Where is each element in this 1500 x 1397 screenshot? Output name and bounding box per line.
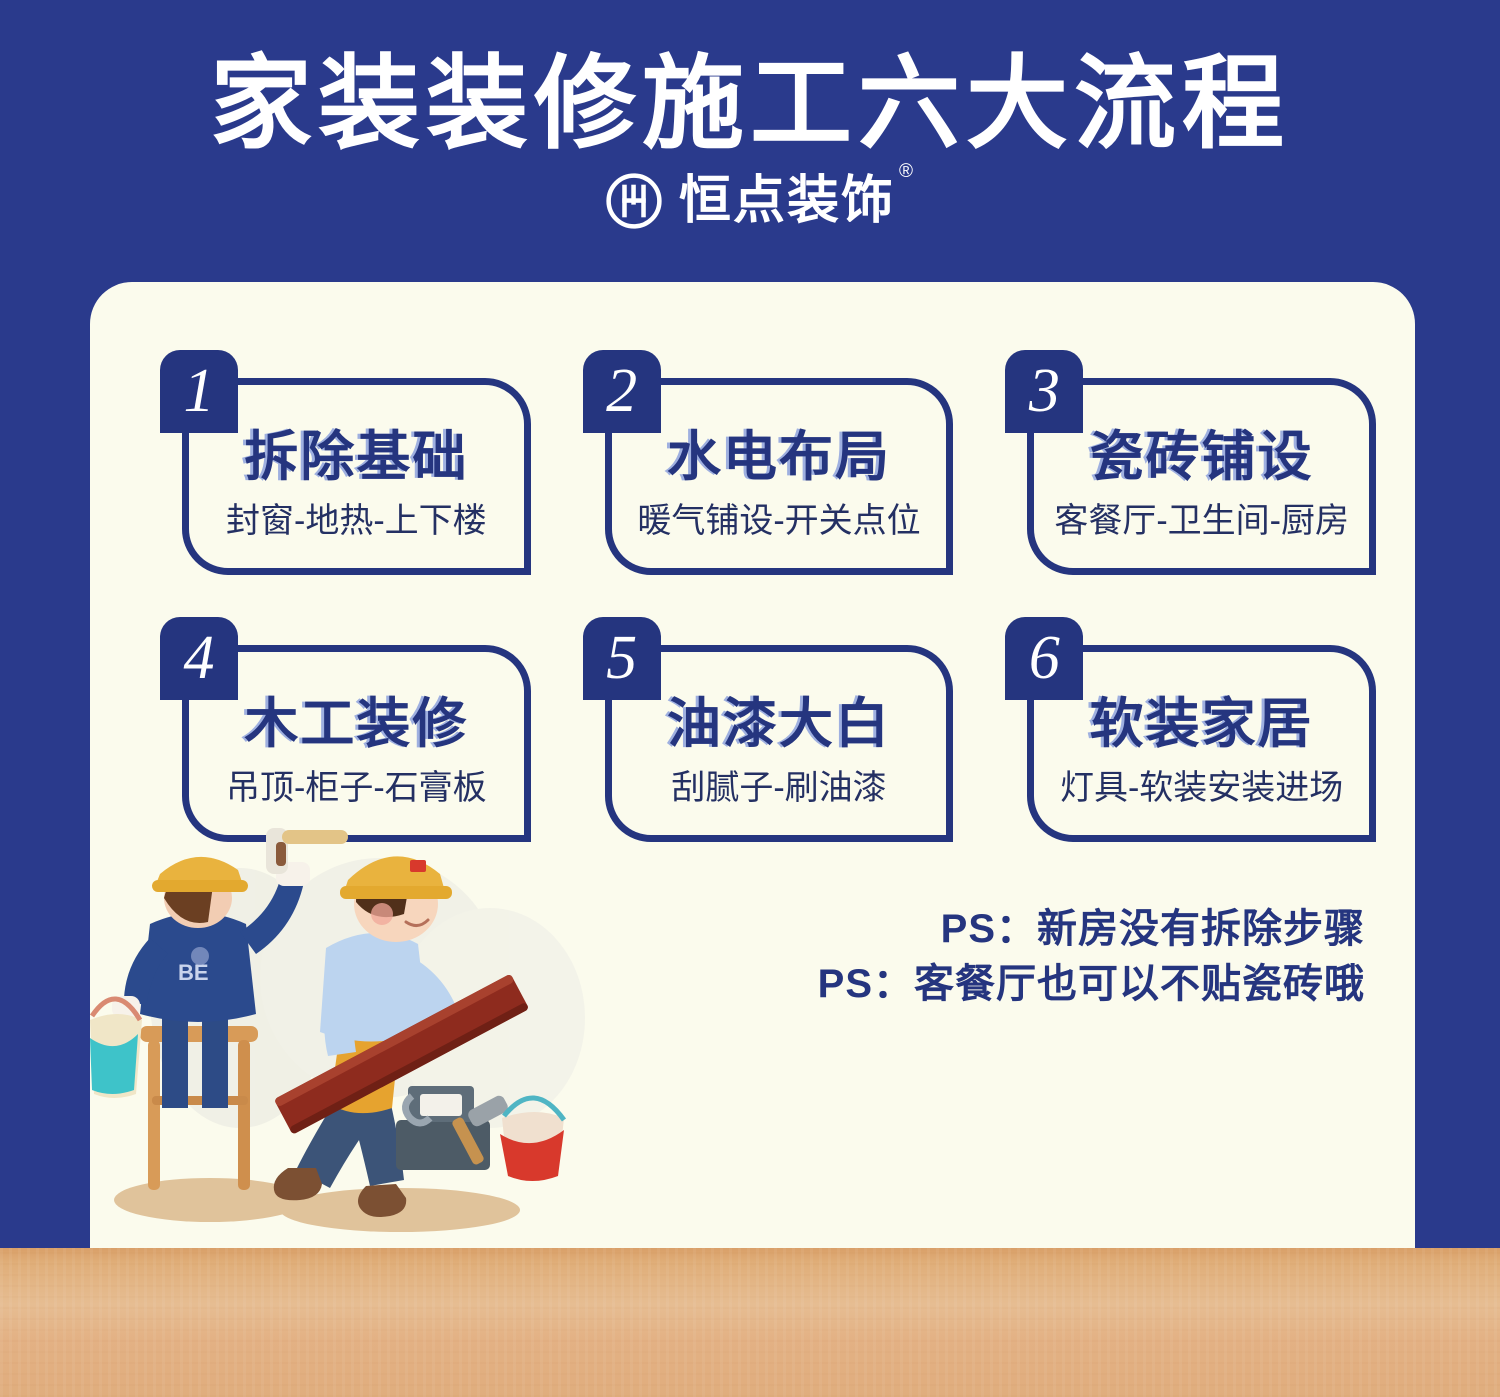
two-construction-workers-illustration: BE — [90, 828, 610, 1248]
step-title: 软装家居 — [1090, 693, 1314, 755]
step-title: 拆除基础 — [244, 426, 468, 488]
brand-name-text: 恒点装饰 — [679, 172, 895, 230]
step-subtitle: 刮腻子-刷油漆 — [671, 767, 886, 809]
step-subtitle: 暖气铺设-开关点位 — [637, 500, 920, 542]
floor-grain-texture — [0, 1248, 1500, 1397]
helmet-badge — [410, 860, 426, 872]
logo-svg — [605, 172, 663, 230]
step-subtitle: 客餐厅-卫生间-厨房 — [1054, 500, 1349, 542]
step-number: 6 — [1005, 619, 1083, 697]
step-subtitle: 封窗-地热-上下楼 — [226, 500, 487, 542]
page-title: 家装装修施工六大流程 — [0, 48, 1500, 160]
step-number-badge: 1 — [160, 350, 238, 433]
ps-note-line: PS：客餐厅也可以不贴瓷砖哦 — [818, 957, 1365, 1012]
floor-strip — [0, 1248, 1500, 1397]
carpenter-boot — [274, 1168, 322, 1200]
steps-grid: 1 拆除基础 封窗-地热-上下楼 2 水电布局 暖气铺设-开关点位 3 瓷砖 — [160, 350, 1390, 842]
step-number: 3 — [1005, 352, 1083, 430]
step-number-badge: 3 — [1005, 350, 1083, 433]
header: 家装装修施工六大流程 恒点装饰 ® — [0, 0, 1500, 262]
step-card-1[interactable]: 1 拆除基础 封窗-地热-上下楼 — [160, 350, 545, 575]
step-title: 水电布局 — [667, 426, 891, 488]
step-card-4[interactable]: 4 木工装修 吊顶-柜子-石膏板 — [160, 617, 545, 842]
step-title: 木工装修 — [244, 693, 468, 755]
step-number-badge: 5 — [583, 617, 661, 700]
ps-note-line: PS：新房没有拆除步骤 — [818, 902, 1365, 957]
brand-lockup: 恒点装饰 ® — [0, 172, 1500, 230]
step-number-badge: 4 — [160, 617, 238, 700]
brand-name: 恒点装饰 ® — [679, 172, 895, 230]
registered-trademark-icon: ® — [899, 162, 915, 181]
content-panel: 1 拆除基础 封窗-地热-上下楼 2 水电布局 暖气铺设-开关点位 3 瓷砖 — [90, 282, 1415, 1248]
step-title: 瓷砖铺设 — [1090, 426, 1314, 488]
step-card-5[interactable]: 5 油漆大白 刮腻子-刷油漆 — [583, 617, 968, 842]
step-card-2[interactable]: 2 水电布局 暖气铺设-开关点位 — [583, 350, 968, 575]
step-number: 1 — [160, 352, 238, 430]
step-title: 油漆大白 — [667, 693, 891, 755]
step-number: 2 — [583, 352, 661, 430]
step-number-badge: 6 — [1005, 617, 1083, 700]
step-card-3[interactable]: 3 瓷砖铺设 客餐厅-卫生间-厨房 — [1005, 350, 1390, 575]
step-number-badge: 2 — [583, 350, 661, 433]
carpenter-cheek — [371, 903, 393, 925]
step-card-6[interactable]: 6 软装家居 灯具-软装安装进场 — [1005, 617, 1390, 842]
step-number: 5 — [583, 619, 661, 697]
step-number: 4 — [160, 619, 238, 697]
step-subtitle: 灯具-软装安装进场 — [1060, 767, 1343, 809]
hengdian-circle-logo-icon — [605, 172, 663, 230]
step-subtitle: 吊顶-柜子-石膏板 — [226, 767, 487, 809]
ps-notes: PS：新房没有拆除步骤 PS：客餐厅也可以不贴瓷砖哦 — [818, 902, 1365, 1012]
carpenter-boot — [358, 1184, 406, 1217]
